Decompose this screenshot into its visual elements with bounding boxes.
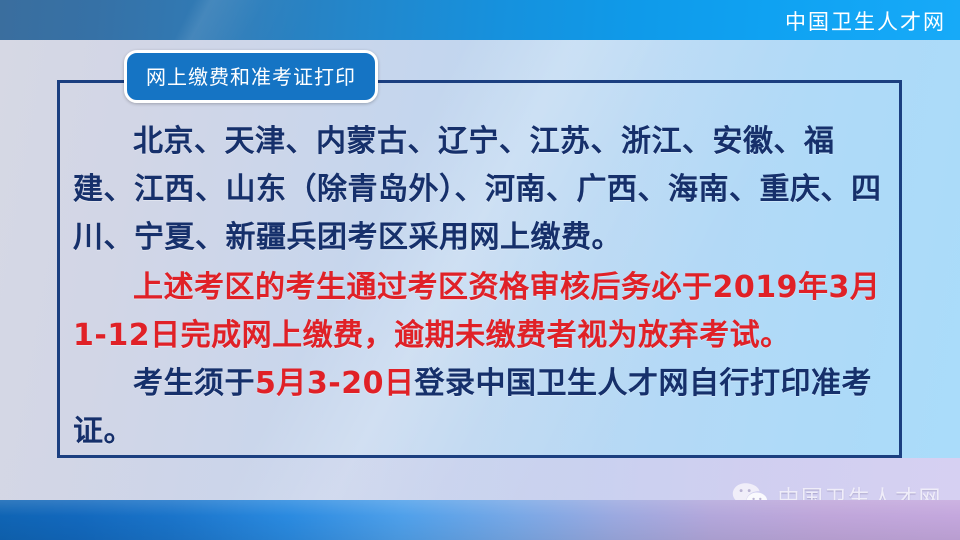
paragraph-payment-deadline: 上述考区的考生通过考区资格审核后务必于2019年3月1-12日完成网上缴费，逾期…: [73, 264, 889, 360]
header-bar: 中国卫生人才网: [0, 0, 960, 40]
admission-prefix-text: 考生须于: [133, 366, 255, 401]
slide-canvas: 中国卫生人才网 网上缴费和准考证打印 北京、天津、内蒙古、辽宁、江苏、浙江、安徽…: [0, 0, 960, 540]
site-title: 中国卫生人才网: [785, 6, 946, 36]
paragraph-admission-ticket: 考生须于5月3-20日登录中国卫生人才网自行打印准考证。: [73, 360, 889, 456]
section-tab-label: 网上缴费和准考证打印: [146, 65, 356, 89]
bottom-color-band: [0, 500, 960, 540]
admission-date-highlight: 5月3-20日: [255, 366, 414, 401]
paragraph-regions: 北京、天津、内蒙古、辽宁、江苏、浙江、安徽、福建、江西、山东（除青岛外）、河南、…: [73, 118, 889, 262]
section-tab[interactable]: 网上缴费和准考证打印: [124, 50, 378, 103]
header-facet-decoration: [0, 0, 420, 40]
body-copy: 北京、天津、内蒙古、辽宁、江苏、浙江、安徽、福建、江西、山东（除青岛外）、河南、…: [73, 118, 889, 456]
bottom-band-sheen: [0, 500, 960, 540]
